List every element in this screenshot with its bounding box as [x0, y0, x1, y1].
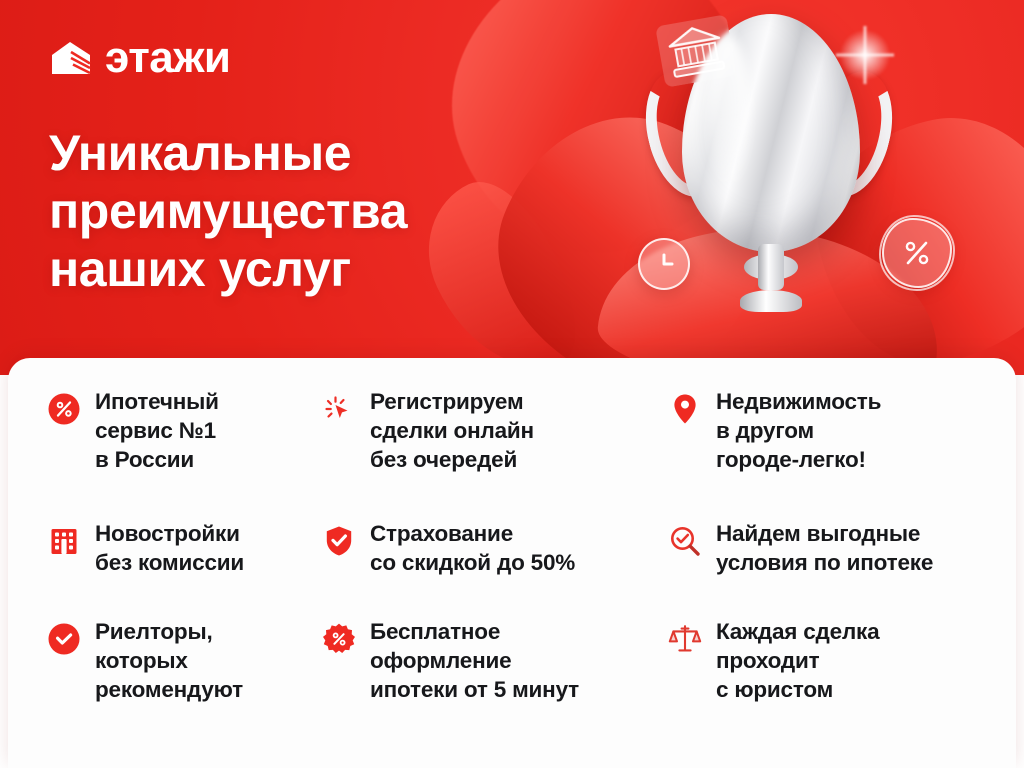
shield-check-icon [322, 524, 356, 558]
feature-line: проходит [716, 647, 879, 676]
headline-line-3: наших услуг [49, 240, 569, 298]
feature-line: Регистрируем [370, 388, 534, 417]
feature-line: сделки онлайн [370, 417, 534, 446]
percent-badge-icon [882, 218, 952, 288]
feature-text: Новостройки без комиссии [95, 520, 244, 578]
brand-logo[interactable]: этажи [49, 36, 230, 80]
scales-icon [668, 622, 702, 656]
feature-line: городе-легко! [716, 446, 881, 475]
feature-line: Бесплатное [370, 618, 579, 647]
feature-text: Недвижимость в другом городе-легко! [716, 388, 881, 474]
map-pin-icon [668, 392, 702, 426]
brand-name: этажи [105, 36, 230, 80]
feature-line: оформление [370, 647, 579, 676]
feature-line: Недвижимость [716, 388, 881, 417]
feature-text: Страхование со скидкой до 50% [370, 520, 575, 578]
page-title: Уникальные преимущества наших услуг [49, 124, 569, 298]
headline-line-1: Уникальные [49, 124, 569, 182]
trophy-base [740, 290, 802, 312]
feature-item: Регистрируем сделки онлайн без очередей [322, 388, 668, 520]
features-card: Ипотечный сервис №1 в России [8, 358, 1016, 768]
feature-item: Страхование со скидкой до 50% [322, 520, 668, 618]
feature-item: Бесплатное оформление ипотеки от 5 минут [322, 618, 668, 704]
percent-circle-icon [47, 392, 81, 426]
feature-text: Регистрируем сделки онлайн без очередей [370, 388, 534, 474]
promo-poster: этажи Уникальные преимущества наших услу… [0, 0, 1024, 768]
bank-columns-icon [655, 14, 737, 88]
feature-text: Риелторы, которых рекомендуют [95, 618, 243, 704]
feature-line: в России [95, 446, 219, 475]
search-check-icon [668, 524, 702, 558]
feature-line: которых [95, 647, 243, 676]
hero-banner: этажи Уникальные преимущества наших услу… [0, 0, 1024, 375]
feature-line: Риелторы, [95, 618, 243, 647]
feature-item: Риелторы, которых рекомендуют [47, 618, 322, 704]
clock-icon [638, 238, 690, 290]
feature-line: сервис №1 [95, 417, 219, 446]
feature-line: Ипотечный [95, 388, 219, 417]
feature-line: Каждая сделка [716, 618, 879, 647]
feature-text: Бесплатное оформление ипотеки от 5 минут [370, 618, 579, 704]
feature-text: Ипотечный сервис №1 в России [95, 388, 219, 474]
feature-line: Новостройки [95, 520, 244, 549]
sparkle-icon [836, 26, 894, 84]
building-icon [47, 524, 81, 558]
feature-item: Недвижимость в другом городе-легко! [668, 388, 999, 520]
feature-line: Найдем выгодные [716, 520, 933, 549]
headline-line-2: преимущества [49, 182, 569, 240]
feature-text: Каждая сделка проходит с юристом [716, 618, 879, 704]
feature-line: без комиссии [95, 549, 244, 578]
check-circle-icon [47, 622, 81, 656]
feature-line: ипотеки от 5 минут [370, 676, 579, 705]
feature-item: Найдем выгодные условия по ипотеке [668, 520, 999, 618]
feature-item: Каждая сделка проходит с юристом [668, 618, 999, 704]
feature-line: Страхование [370, 520, 575, 549]
feature-line: в другом [716, 417, 881, 446]
percent-badge-icon [322, 622, 356, 656]
feature-item: Ипотечный сервис №1 в России [47, 388, 322, 520]
feature-item: Новостройки без комиссии [47, 520, 322, 618]
building-logo-icon [49, 38, 93, 78]
feature-line: рекомендуют [95, 676, 243, 705]
feature-line: условия по ипотеке [716, 549, 933, 578]
trophy-stem [758, 244, 784, 290]
features-grid: Ипотечный сервис №1 в России [47, 388, 999, 704]
feature-line: без очередей [370, 446, 534, 475]
cursor-click-icon [322, 392, 356, 426]
feature-text: Найдем выгодные условия по ипотеке [716, 520, 933, 578]
feature-line: со скидкой до 50% [370, 549, 575, 578]
feature-line: с юристом [716, 676, 879, 705]
